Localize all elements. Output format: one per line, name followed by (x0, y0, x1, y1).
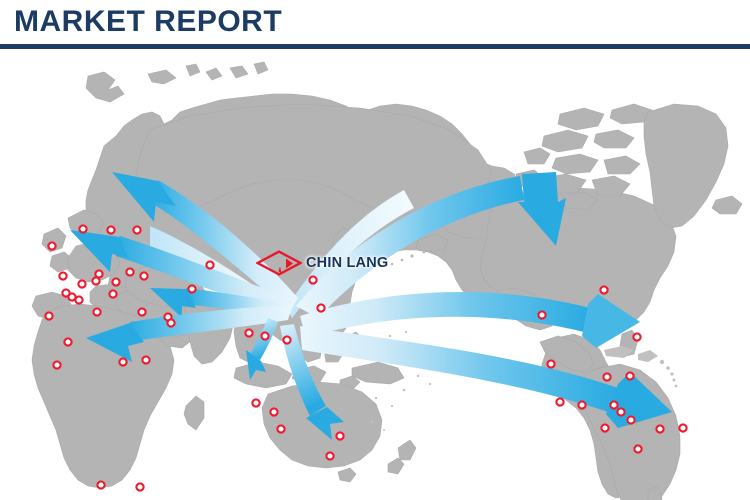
city-marker-ring-icon[interactable] (627, 416, 634, 423)
city-marker-ring-icon[interactable] (95, 270, 102, 277)
city-marker-ring-icon[interactable] (538, 311, 545, 318)
city-marker-ring-icon[interactable] (547, 360, 554, 367)
city-marker-ring-icon[interactable] (133, 226, 140, 233)
city-marker-ring-icon[interactable] (283, 336, 290, 343)
city-marker-ring-icon[interactable] (601, 424, 608, 431)
city-marker-ring-icon[interactable] (142, 356, 149, 363)
city-marker-ring-icon[interactable] (48, 242, 55, 249)
city-marker-ring-icon[interactable] (336, 432, 343, 439)
city-marker-ring-icon[interactable] (556, 398, 563, 405)
city-marker-ring-icon[interactable] (78, 280, 85, 287)
city-marker-ring-icon[interactable] (167, 319, 174, 326)
city-marker-ring-icon[interactable] (626, 372, 633, 379)
world-map: CHIN LANG (0, 50, 750, 500)
city-marker-ring-icon[interactable] (97, 481, 104, 488)
company-logo[interactable]: CHIN LANG (256, 250, 388, 276)
city-marker-ring-icon[interactable] (109, 290, 116, 297)
city-marker-ring-icon[interactable] (107, 226, 114, 233)
city-marker-ring-icon[interactable] (188, 285, 195, 292)
city-marker-ring-icon[interactable] (277, 425, 284, 432)
city-marker-ring-icon[interactable] (317, 304, 324, 311)
city-marker-ring-icon[interactable] (270, 408, 277, 415)
city-marker-ring-icon[interactable] (617, 408, 624, 415)
page-title: MARKET REPORT (14, 5, 282, 39)
city-marker-ring-icon[interactable] (633, 333, 640, 340)
city-marker-ring-icon[interactable] (138, 308, 145, 315)
header-divider (0, 44, 750, 49)
city-marker-ring-icon[interactable] (679, 424, 686, 431)
city-marker-ring-icon[interactable] (136, 483, 143, 490)
city-marker-ring-icon[interactable] (112, 278, 119, 285)
city-marker-ring-icon[interactable] (578, 401, 585, 408)
city-marker-ring-icon[interactable] (309, 276, 316, 283)
page-header: MARKET REPORT (0, 0, 750, 50)
city-marker-ring-icon[interactable] (656, 425, 663, 432)
city-marker-ring-icon[interactable] (64, 338, 71, 345)
city-marker-ring-icon[interactable] (59, 272, 66, 279)
red-diamond-arrow-icon (256, 250, 302, 276)
city-marker-ring-icon[interactable] (252, 399, 259, 406)
city-marker-ring-icon[interactable] (79, 225, 86, 232)
market-report-slide: MARKET REPORT (0, 0, 750, 500)
city-marker-ring-icon[interactable] (603, 373, 610, 380)
city-marker-ring-icon[interactable] (119, 358, 126, 365)
city-marker-ring-icon[interactable] (140, 272, 147, 279)
city-marker-ring-icon[interactable] (634, 445, 641, 452)
city-marker-ring-icon[interactable] (610, 401, 617, 408)
city-marker-ring-icon[interactable] (245, 329, 252, 336)
city-marker-ring-icon[interactable] (600, 286, 607, 293)
city-marker-ring-icon[interactable] (53, 361, 60, 368)
logo-brand-text: CHIN LANG (306, 255, 388, 271)
city-marker-ring-icon[interactable] (45, 312, 52, 319)
city-marker-ring-icon[interactable] (261, 332, 268, 339)
city-marker-ring-icon[interactable] (75, 296, 82, 303)
city-marker-ring-icon[interactable] (206, 261, 213, 268)
city-marker-ring-icon[interactable] (126, 268, 133, 275)
city-marker-ring-icon[interactable] (93, 308, 100, 315)
city-marker-ring-icon[interactable] (326, 452, 333, 459)
